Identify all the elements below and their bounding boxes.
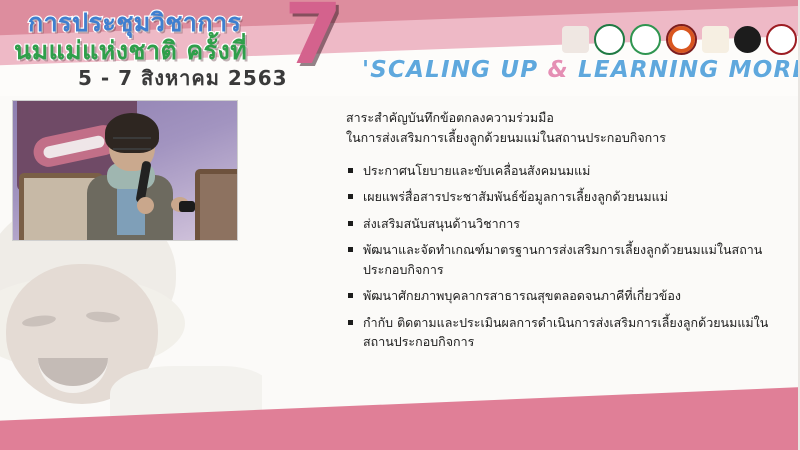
slogan-prefix: 'SCALING UP bbox=[362, 57, 548, 83]
bullet-item: พัฒนาศักยภาพบุคลากรสาธารณสุขตลอดจนภาคีที… bbox=[346, 286, 776, 306]
red-seal-emblem-logo bbox=[766, 24, 797, 55]
slogan-suffix: LEARNING MORE' bbox=[569, 57, 800, 83]
slide-content: สาระสำคัญบันทึกข้อตกลงความร่วมมือ ในการส… bbox=[346, 108, 776, 359]
slide-header-banner: การประชุมวิชาการ นมแม่แห่งชาติ ครั้งที่ … bbox=[0, 0, 800, 96]
slide-body: สาระสำคัญบันทึกข้อตกลงความร่วมมือ ในการส… bbox=[0, 96, 800, 450]
conference-date-range: 5 - 7 สิงหาคม 2563 bbox=[78, 62, 288, 94]
edition-number: 7 bbox=[284, 0, 342, 76]
speaker-hand-left bbox=[137, 197, 154, 214]
stage-chair-right bbox=[195, 169, 238, 241]
garuda-emblem-logo bbox=[702, 26, 729, 53]
presenter-remote bbox=[179, 201, 195, 212]
slogan-ampersand: & bbox=[548, 57, 569, 83]
bullet-item: เผยแพร่สื่อสารประชาสัมพันธ์ข้อมูลการเลี้… bbox=[346, 187, 776, 207]
bullet-item: ประกาศนโยบายและขับเคลื่อนสังคมนมแม่ bbox=[346, 161, 776, 181]
speaker-glasses bbox=[113, 137, 151, 150]
sponsor-logo-strip: สสส bbox=[562, 22, 800, 56]
health-department-logo bbox=[630, 24, 661, 55]
royal-emblem-logo bbox=[562, 26, 589, 53]
ministry-emblem-logo bbox=[666, 24, 697, 55]
bullet-item: กำกับ ติดตามและประเมินผลการดำเนินการส่งเ… bbox=[346, 313, 776, 352]
bullet-item: พัฒนาและจัดทำเกณฑ์มาตรฐานการส่งเสริมการเ… bbox=[346, 240, 776, 279]
conference-slogan: 'SCALING UP & LEARNING MORE' bbox=[362, 57, 800, 83]
speaker-video-inset[interactable] bbox=[12, 100, 238, 241]
lede-line-1: สาระสำคัญบันทึกข้อตกลงความร่วมมือ bbox=[346, 108, 776, 128]
presentation-slide: การประชุมวิชาการ นมแม่แห่งชาติ ครั้งที่ … bbox=[0, 0, 800, 450]
bullet-item: ส่งเสริมสนับสนุนด้านวิชาการ bbox=[346, 214, 776, 234]
thai-breastfeeding-centre-logo bbox=[594, 24, 625, 55]
lede-line-2: ในการส่งเสริมการเลี้ยงลูกด้วยนมแม่ในสถาน… bbox=[346, 128, 776, 148]
smiling-child-photo bbox=[0, 216, 262, 426]
black-circle-emblem-logo bbox=[734, 26, 761, 53]
bullet-list: ประกาศนโยบายและขับเคลื่อนสังคมนมแม่ เผยแ… bbox=[346, 161, 776, 352]
slide-lede: สาระสำคัญบันทึกข้อตกลงความร่วมมือ ในการส… bbox=[346, 108, 776, 149]
